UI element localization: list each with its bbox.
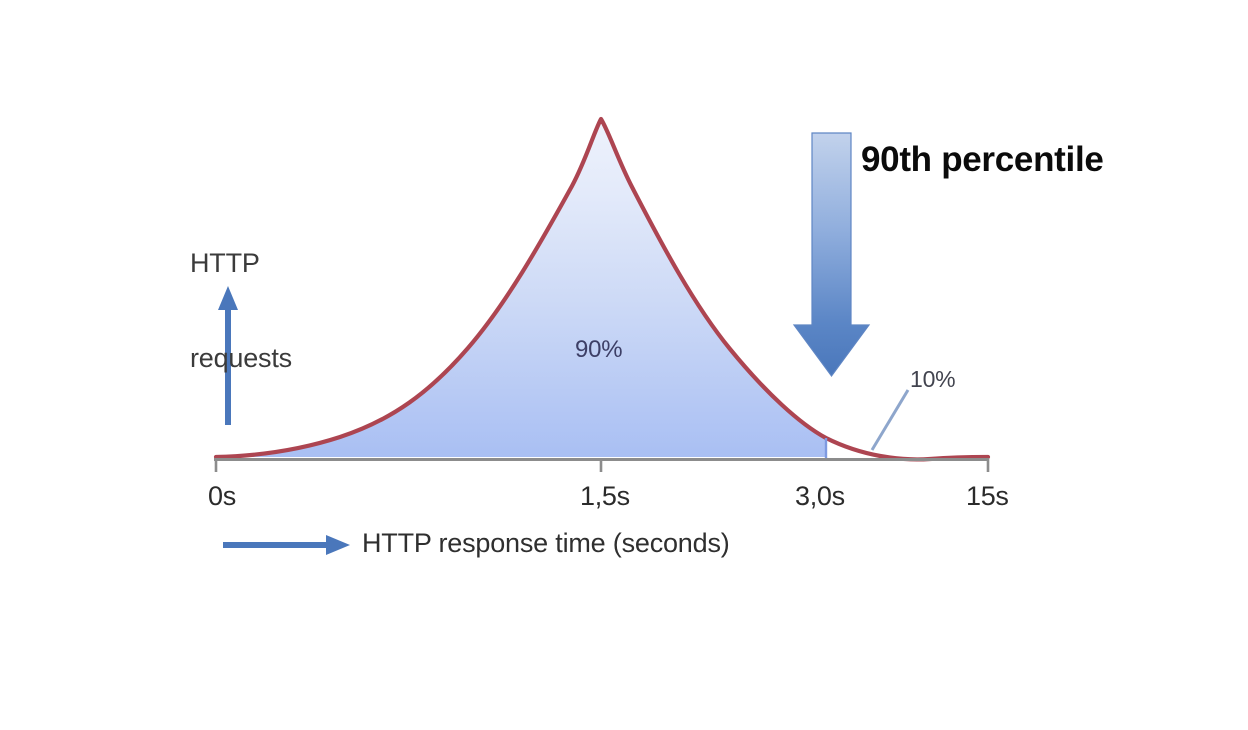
major-region-percent-label: 90% [575, 336, 622, 364]
y-axis-title-line-1: HTTP [190, 248, 292, 280]
chart-canvas [0, 0, 1248, 730]
x-axis-title: HTTP response time (seconds) [362, 528, 730, 560]
area-fill-90-percent [216, 119, 826, 457]
y-axis-title-line-2: requests [190, 343, 292, 375]
percentile-annotation-label: 90th percentile [861, 139, 1104, 180]
x-axis-tick-label-1: 1,5s [580, 481, 630, 512]
x-axis-tick-label-3: 15s [966, 481, 1009, 512]
y-axis-title: HTTP requests [190, 184, 292, 439]
minor-region-leader-line [872, 390, 908, 450]
percentile-block-arrow[interactable] [794, 133, 869, 376]
x-axis-tick-label-0: 0s [208, 481, 236, 512]
x-axis-tick-label-2: 3,0s [795, 481, 845, 512]
x-axis-direction-arrow [223, 535, 350, 555]
minor-region-percent-label: 10% [910, 366, 955, 393]
chart-figure: HTTP requests HTTP response time (second… [0, 0, 1248, 730]
